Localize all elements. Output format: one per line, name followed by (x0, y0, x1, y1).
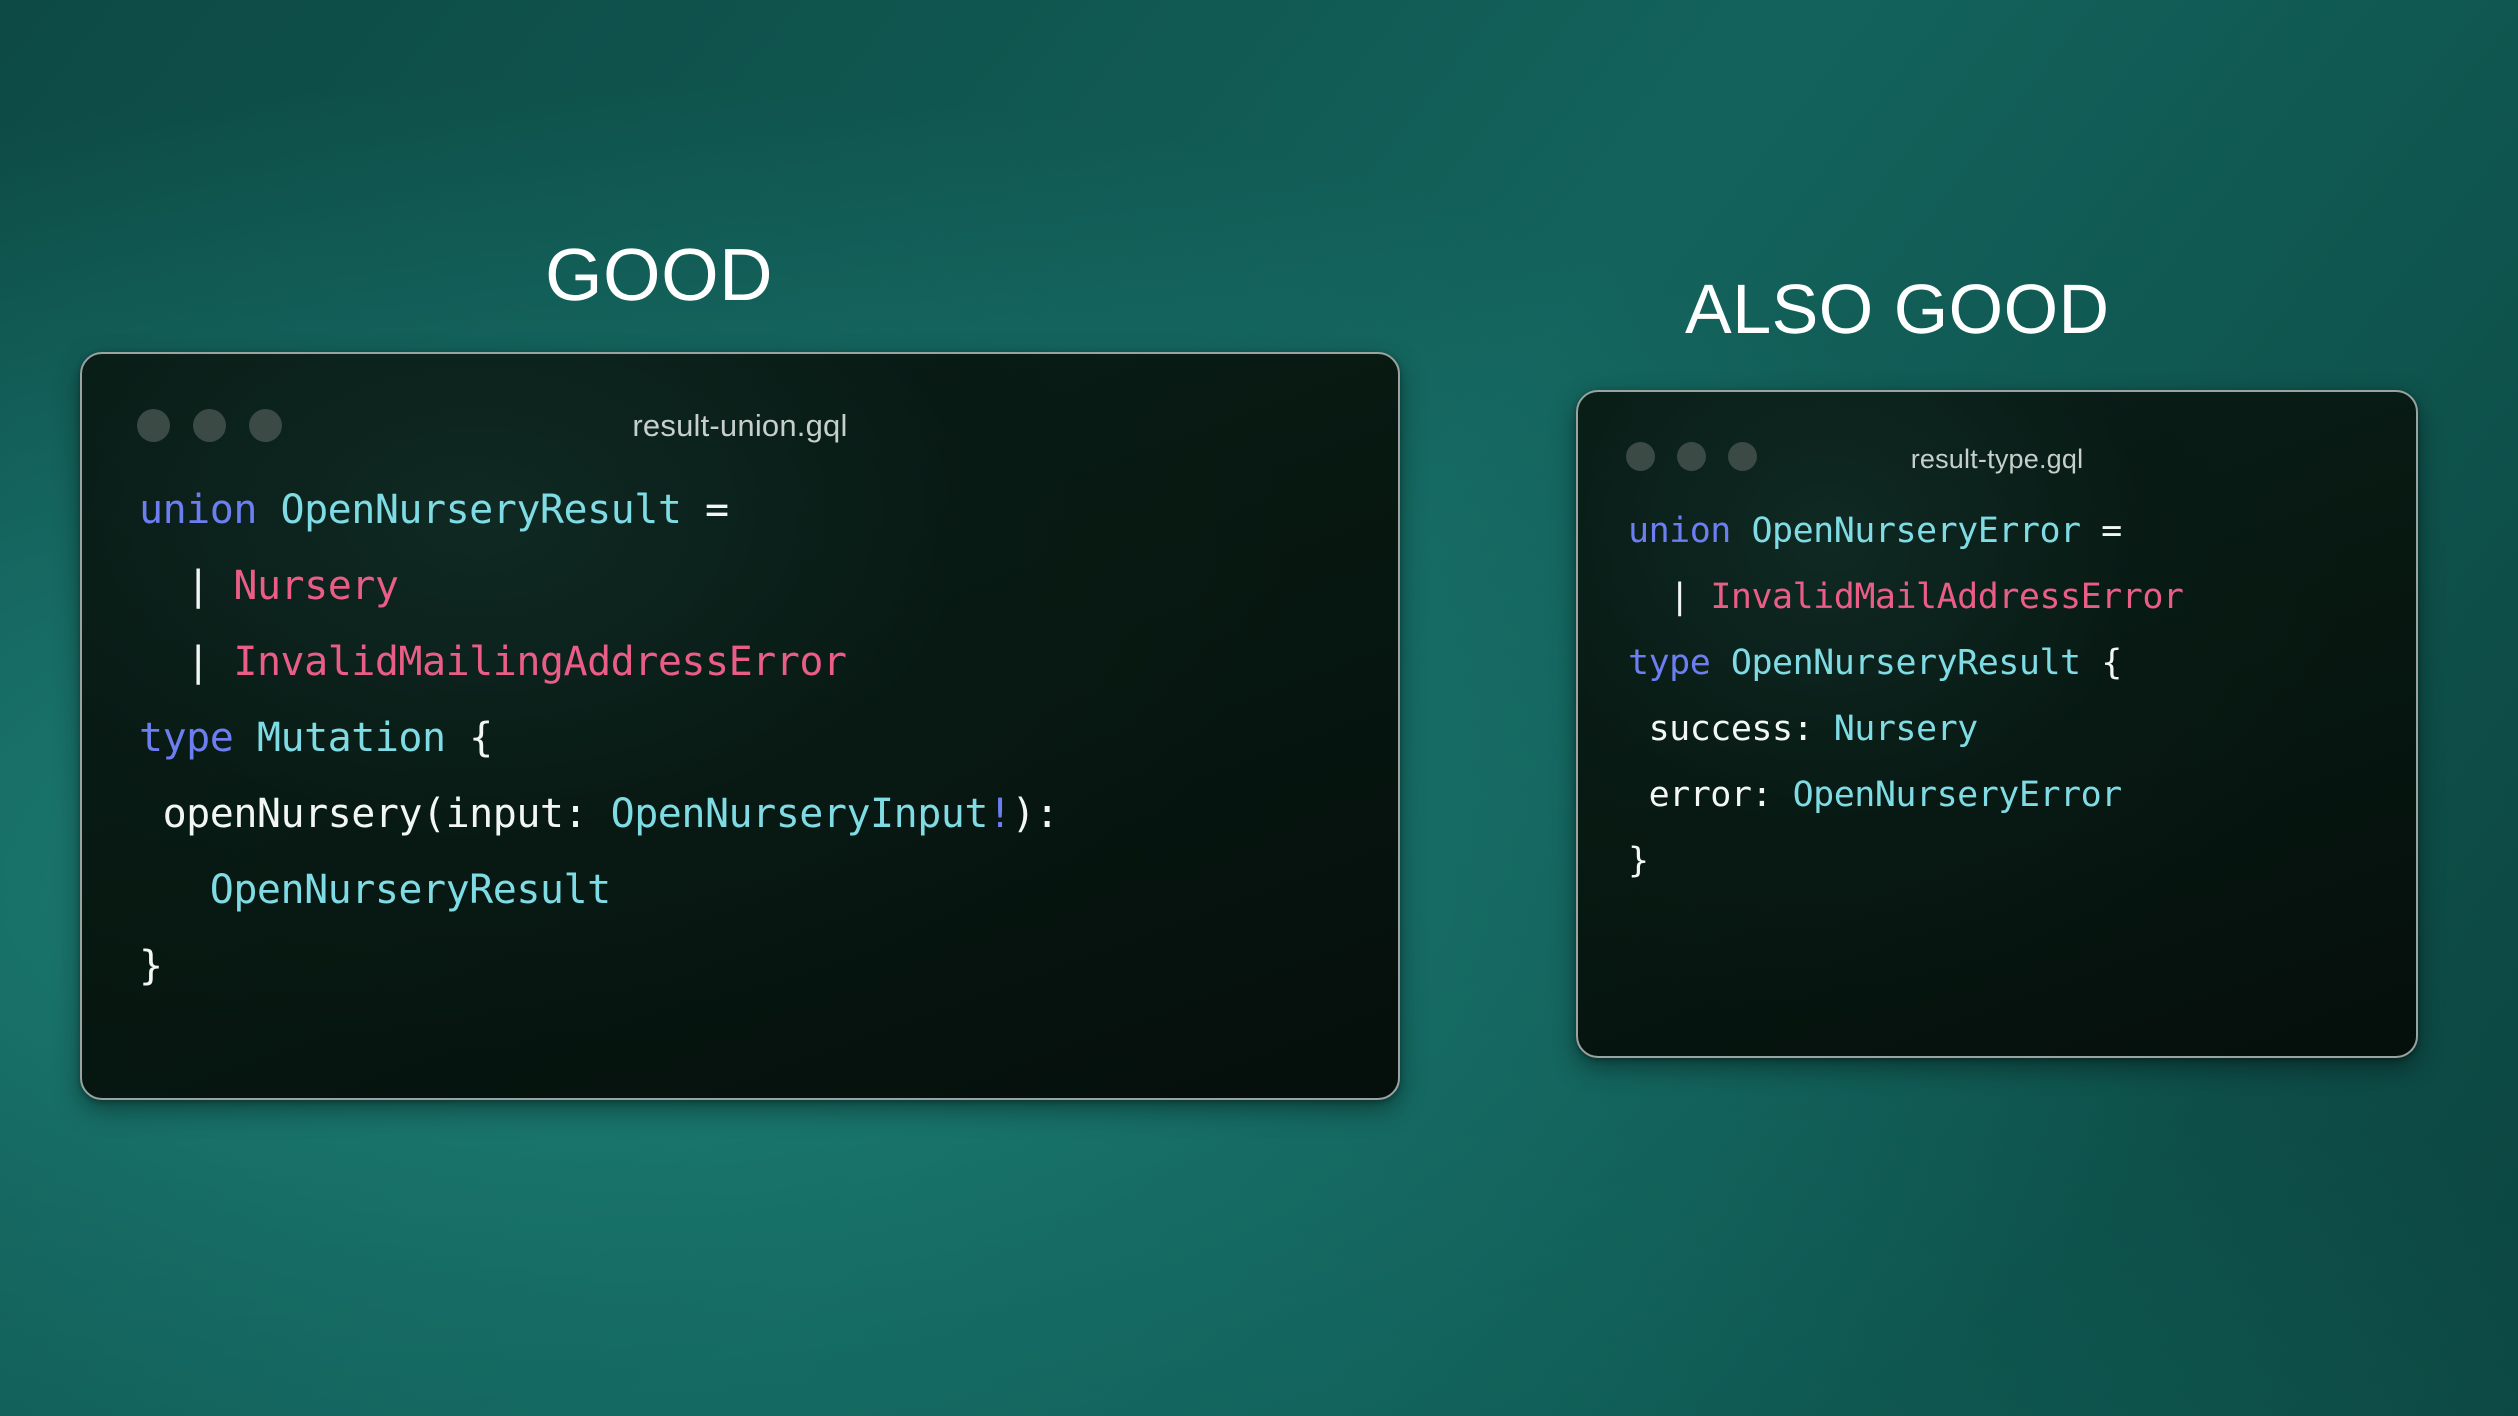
code-token-punct: = (2101, 511, 2122, 551)
code-token-punct: | (1669, 577, 1690, 617)
code-token-punct: } (1628, 841, 1649, 881)
code-token-plain (681, 487, 705, 533)
code-window-titlebar: result-type.gql (1578, 392, 2416, 484)
code-token-type: Mutation (257, 715, 446, 761)
slide-canvas: GOOD result-union.gql union OpenNurseryR… (0, 0, 2518, 1416)
code-line: openNursery(input: OpenNurseryInput!): (139, 776, 1398, 852)
code-token-punct: ): (1012, 791, 1059, 837)
code-token-plain (1628, 577, 1669, 617)
code-token-plain (2081, 511, 2102, 551)
code-line: | Nursery (139, 548, 1398, 624)
code-token-type: OpenNurseryResult (281, 487, 682, 533)
code-token-plain (1731, 511, 1752, 551)
code-line: success: Nursery (1628, 696, 2416, 762)
code-window-good: result-union.gql union OpenNurseryResult… (80, 352, 1400, 1100)
code-line: error: OpenNurseryError (1628, 762, 2416, 828)
code-window-filename: result-type.gql (1578, 444, 2416, 475)
panel-heading-also-good: ALSO GOOD (1685, 274, 2110, 344)
code-token-plain (233, 715, 257, 761)
code-block-also-good: union OpenNurseryError = | InvalidMailAd… (1628, 498, 2416, 894)
code-token-plain (210, 639, 234, 685)
code-window-titlebar: result-union.gql (82, 354, 1398, 450)
code-token-field: openNursery(input: (139, 791, 611, 837)
code-token-bang: ! (988, 791, 1012, 837)
code-token-type: OpenNurseryInput (611, 791, 988, 837)
code-token-plain (210, 563, 234, 609)
code-token-punct: } (139, 943, 163, 989)
code-line: union OpenNurseryError = (1628, 498, 2416, 564)
code-window-filename: result-union.gql (82, 408, 1398, 444)
code-window-also-good: result-type.gql union OpenNurseryError =… (1576, 390, 2418, 1058)
code-token-type: Nursery (1834, 709, 1978, 749)
code-token-error: InvalidMailingAddressError (233, 639, 846, 685)
code-line: } (1628, 828, 2416, 894)
code-token-keyword: union (139, 487, 257, 533)
code-token-plain (446, 715, 470, 761)
code-token-keyword: union (1628, 511, 1731, 551)
code-token-error: Nursery (233, 563, 398, 609)
code-block-good: union OpenNurseryResult = | Nursery | In… (139, 472, 1398, 1004)
code-token-plain (139, 639, 186, 685)
code-line: type OpenNurseryResult { (1628, 630, 2416, 696)
code-token-type: OpenNurseryError (1751, 511, 2080, 551)
code-token-keyword: type (139, 715, 233, 761)
code-token-punct: | (186, 639, 210, 685)
code-token-punct: | (186, 563, 210, 609)
code-token-plain (139, 563, 186, 609)
code-line: OpenNurseryResult (139, 852, 1398, 928)
code-token-plain (139, 867, 210, 913)
code-line: } (139, 928, 1398, 1004)
code-token-plain (1690, 577, 1711, 617)
code-token-plain (257, 487, 281, 533)
code-token-error: InvalidMailAddressError (1710, 577, 2183, 617)
code-line: type Mutation { (139, 700, 1398, 776)
code-line: | InvalidMailingAddressError (139, 624, 1398, 700)
code-line: | InvalidMailAddressError (1628, 564, 2416, 630)
code-token-type: OpenNurseryResult (1731, 643, 2081, 683)
code-token-plain (2081, 643, 2102, 683)
panel-heading-good: GOOD (545, 238, 773, 312)
code-token-plain (1710, 643, 1731, 683)
code-token-field: error: (1628, 775, 1793, 815)
code-token-type: OpenNurseryResult (210, 867, 611, 913)
code-token-type: OpenNurseryError (1793, 775, 2122, 815)
code-token-field: success: (1628, 709, 1834, 749)
code-token-punct: { (469, 715, 493, 761)
code-token-punct: = (705, 487, 729, 533)
code-token-punct: { (2101, 643, 2122, 683)
code-token-keyword: type (1628, 643, 1710, 683)
code-line: union OpenNurseryResult = (139, 472, 1398, 548)
